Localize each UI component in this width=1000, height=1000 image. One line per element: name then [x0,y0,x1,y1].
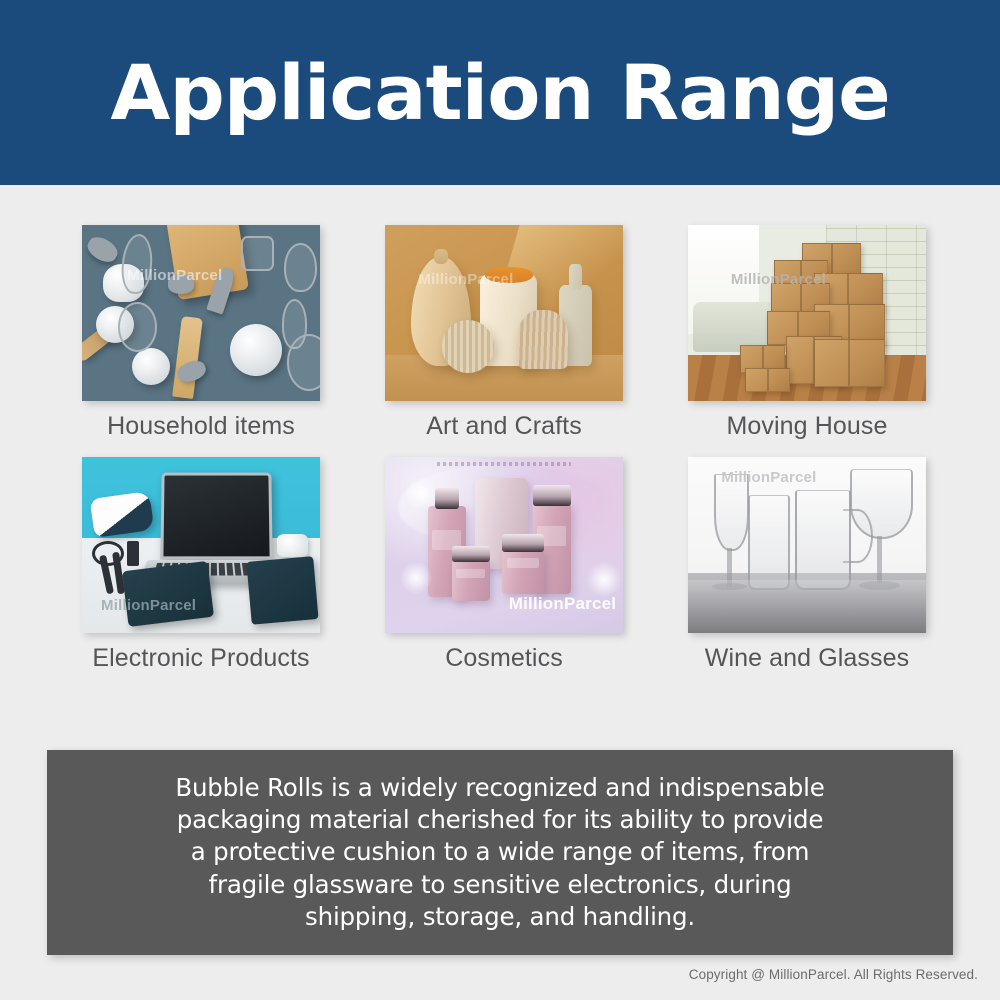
tile-electronic-products[interactable]: MillionParcel Electronic Products [82,457,320,673]
tile-label-art-and-crafts: Art and Crafts [385,413,623,441]
moving-house-image: MillionParcel [688,225,926,401]
tile-cosmetics[interactable]: MillionParcel Cosmetics [385,457,623,673]
thumbnail-household-items[interactable]: MillionParcel [82,225,320,401]
page-title: Application Range [110,55,889,131]
thumbnail-wine-and-glasses[interactable]: MillionParcel [688,457,926,633]
application-range-grid: MillionParcel Household items MillionPar… [82,225,927,688]
tile-art-and-crafts[interactable]: MillionParcel Art and Crafts [385,225,623,441]
tile-label-moving-house: Moving House [688,413,926,441]
page-header: Application Range [0,0,1000,185]
tile-label-electronic-products: Electronic Products [82,645,320,673]
tile-label-cosmetics: Cosmetics [385,645,623,673]
thumbnail-cosmetics[interactable]: MillionParcel [385,457,623,633]
tile-household-items[interactable]: MillionParcel Household items [82,225,320,441]
tile-moving-house[interactable]: MillionParcel Moving House [688,225,926,441]
thumbnail-moving-house[interactable]: MillionParcel [688,225,926,401]
wine-and-glasses-image: MillionParcel [688,457,926,633]
thumbnail-electronic-products[interactable]: MillionParcel [82,457,320,633]
electronic-products-image: MillionParcel [82,457,320,633]
description-text: Bubble Rolls is a widely recognized and … [175,772,824,934]
tile-wine-and-glasses[interactable]: MillionParcel Wine and Glasses [688,457,926,673]
art-and-crafts-image: MillionParcel [385,225,623,401]
cosmetics-image: MillionParcel [385,457,623,633]
household-items-image: MillionParcel [82,225,320,401]
copyright-notice: Copyright @ MillionParcel. All Rights Re… [689,967,978,982]
tile-label-household-items: Household items [82,413,320,441]
tile-label-wine-and-glasses: Wine and Glasses [688,645,926,673]
description-panel: Bubble Rolls is a widely recognized and … [47,750,953,955]
thumbnail-art-and-crafts[interactable]: MillionParcel [385,225,623,401]
